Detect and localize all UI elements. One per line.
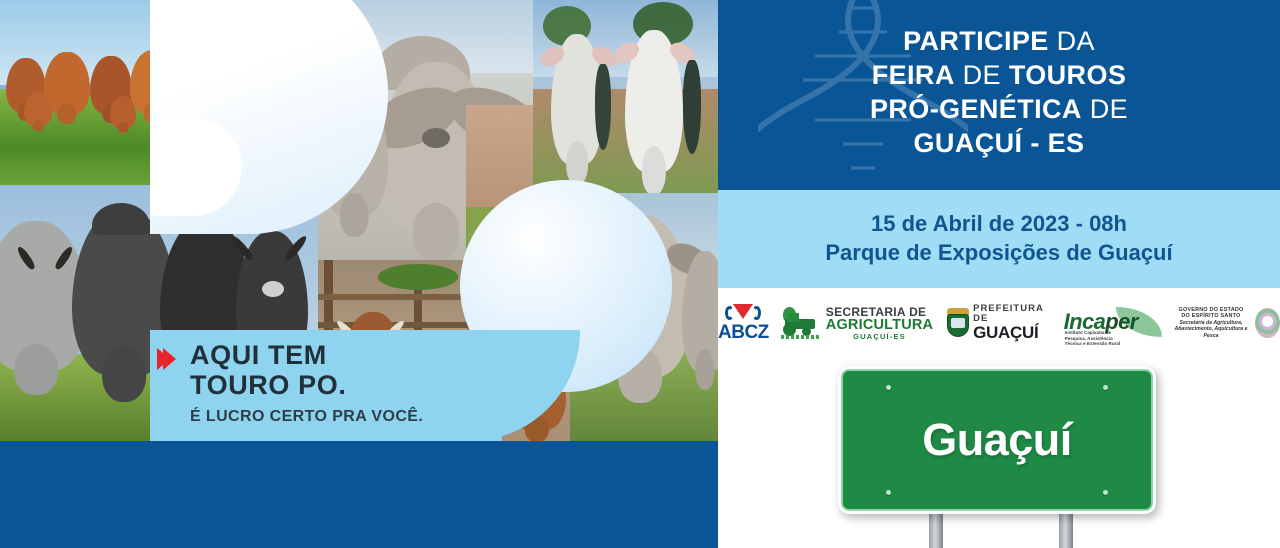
- prefeitura-line-2: GUAÇUÍ: [973, 324, 1052, 342]
- tagline-line-2: TOURO PO.: [190, 372, 346, 399]
- secretaria-line-2: AGRICULTURA: [826, 318, 933, 333]
- info-panel: PARTICIPE DA FEIRA DE TOUROS PRÓ-GENÉTIC…: [718, 0, 1280, 548]
- secretaria-line-3: GUAÇUÍ-ES: [826, 333, 933, 341]
- road-sign-graphic: Guaçuí: [718, 358, 1280, 548]
- coat-of-arms-icon: [945, 308, 968, 338]
- headline-line-4: GUAÇUÍ - ES: [718, 126, 1280, 160]
- sponsor-logo-strip: ABCZ SECRETARIA DE AGRICULTURA GUAÇUÍ-ES: [718, 292, 1280, 354]
- incaper-subtitle: Instituto Capixaba de Pesquisa, Assistên…: [1065, 330, 1123, 347]
- logo-abcz: ABCZ: [718, 303, 769, 344]
- tagline-line-1: AQUI TEM: [190, 342, 327, 369]
- photo-collage-panel: AQUI TEM TOURO PO. É LUCRO CERTO PRA VOC…: [0, 0, 718, 548]
- headline-line-1: PARTICIPE DA: [718, 24, 1280, 58]
- logo-abcz-word: ABCZ: [718, 322, 769, 344]
- headline-text: PARTICIPE DA FEIRA DE TOUROS PRÓ-GENÉTIC…: [718, 24, 1280, 160]
- road-sign-board: Guaçuí: [838, 366, 1156, 514]
- governo-line-4: Abastecimento, Aquicultura e Pesca: [1172, 326, 1251, 339]
- tractor-icon: [781, 307, 821, 339]
- photo-two-white-nelore-cows: [533, 0, 718, 193]
- logo-prefeitura-guacui: PREFEITURA DE GUAÇUÍ: [945, 304, 1051, 341]
- zebu-triangle-emblem-icon: [726, 303, 760, 322]
- event-date: 15 de Abril de 2023 - 08h: [871, 210, 1127, 239]
- road-sign-label: Guaçuí: [922, 414, 1072, 466]
- tagline-subline: É LUCRO CERTO PRA VOCÊ.: [190, 408, 423, 426]
- event-venue: Parque de Exposições de Guaçuí: [825, 239, 1172, 268]
- state-seal-icon: [1255, 308, 1280, 338]
- prefeitura-line-1: PREFEITURA DE: [973, 304, 1052, 324]
- headline-block: PARTICIPE DA FEIRA DE TOUROS PRÓ-GENÉTIC…: [718, 0, 1280, 190]
- bottom-navy-bar: [0, 441, 718, 548]
- logo-incaper: Incaper Instituto Capixaba de Pesquisa, …: [1064, 305, 1160, 341]
- logo-governo-es: GOVERNO DO ESTADO DO ESPÍRITO SANTO Secr…: [1172, 307, 1280, 339]
- promo-banner: AQUI TEM TOURO PO. É LUCRO CERTO PRA VOC…: [0, 0, 1280, 548]
- logo-secretaria-agricultura: SECRETARIA DE AGRICULTURA GUAÇUÍ-ES: [781, 306, 933, 341]
- governo-line-2: DO ESPÍRITO SANTO: [1172, 313, 1251, 320]
- headline-line-3: PRÓ-GENÉTICA DE: [718, 92, 1280, 126]
- tagline-box: AQUI TEM TOURO PO. É LUCRO CERTO PRA VOC…: [150, 330, 502, 441]
- headline-line-2: FEIRA DE TOUROS: [718, 58, 1280, 92]
- chevron-right-icon: [163, 348, 176, 370]
- event-details-block: 15 de Abril de 2023 - 08h Parque de Expo…: [718, 190, 1280, 288]
